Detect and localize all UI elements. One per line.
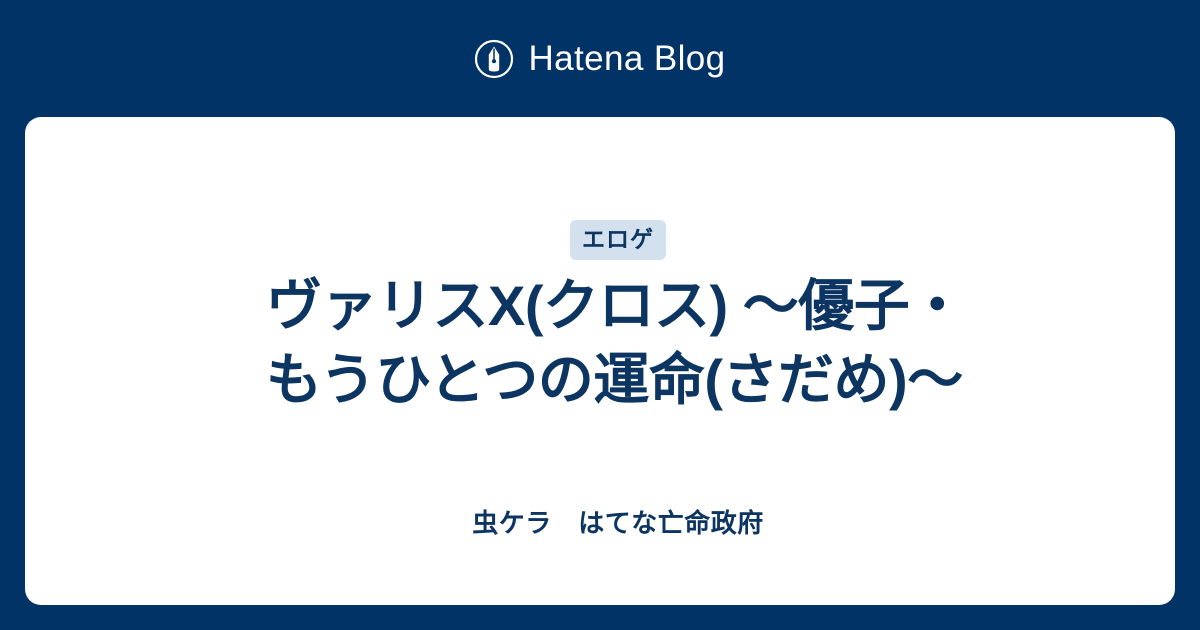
entry-title: ヴァリスX(クロス) 〜優子・もうひとつの運命(さだめ)〜	[266, 269, 986, 417]
hatena-pen-nib-icon	[474, 39, 514, 79]
entry-category-tag[interactable]: エロゲ	[570, 220, 666, 260]
entry-card-content: エロゲ ヴァリスX(クロス) 〜優子・もうひとつの運命(さだめ)〜 虫ケラ はて…	[248, 117, 988, 605]
hatena-blog-brand: Hatena Blog	[0, 0, 1200, 117]
entry-tag-row: エロゲ	[248, 220, 988, 260]
blog-name-label: 虫ケラ はてな亡命政府	[248, 507, 988, 541]
hatena-blog-og-card: Hatena Blog エロゲ ヴァリスX(クロス) 〜優子・もうひとつの運命(…	[0, 0, 1200, 630]
entry-card: エロゲ ヴァリスX(クロス) 〜優子・もうひとつの運命(さだめ)〜 虫ケラ はて…	[25, 117, 1175, 605]
brand-name-label: Hatena Blog	[528, 41, 725, 76]
